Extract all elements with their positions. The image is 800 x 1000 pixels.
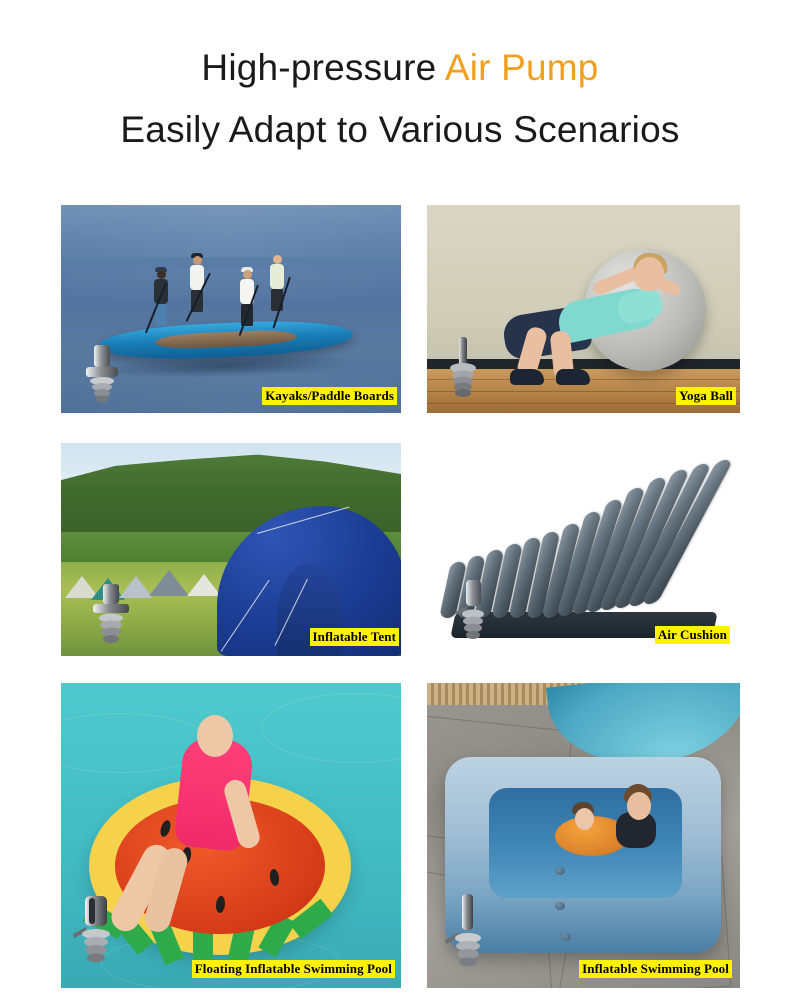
panel-caption: Inflatable Swimming Pool xyxy=(579,960,732,978)
panel-caption: Yoga Ball xyxy=(676,387,736,405)
product-feature-page: High-pressure Air Pump Easily Adapt to V… xyxy=(0,0,800,1000)
panel-caption: Floating Inflatable Swimming Pool xyxy=(192,960,395,978)
scenario-panel-air-cushion[interactable]: Air Cushion xyxy=(427,443,740,656)
air-pump-nozzle-icon xyxy=(82,343,122,405)
panel-caption: Air Cushion xyxy=(655,626,730,644)
scenario-panel-yoga-ball[interactable]: Yoga Ball xyxy=(427,205,740,413)
panel-caption: Kayaks/Paddle Boards xyxy=(262,387,397,405)
panel-caption: Inflatable Tent xyxy=(310,628,400,646)
air-pump-nozzle-icon xyxy=(73,894,119,966)
air-pump-nozzle-icon xyxy=(443,337,483,399)
scenario-grid: Kayaks/Paddle Boards xyxy=(0,0,800,1000)
scenario-panel-inflatable-swimming-pool[interactable]: Inflatable Swimming Pool xyxy=(427,683,740,988)
scenario-panel-kayaks-paddle-boards[interactable]: Kayaks/Paddle Boards xyxy=(61,205,401,413)
scenario-panel-floating-inflatable-swimming-pool[interactable]: Floating Inflatable Swimming Pool xyxy=(61,683,401,988)
air-pump-nozzle-icon xyxy=(91,584,131,646)
air-pump-nozzle-icon xyxy=(445,894,491,970)
scenario-panel-inflatable-tent[interactable]: Inflatable Tent xyxy=(61,443,401,656)
air-pump-nozzle-icon xyxy=(453,578,493,640)
